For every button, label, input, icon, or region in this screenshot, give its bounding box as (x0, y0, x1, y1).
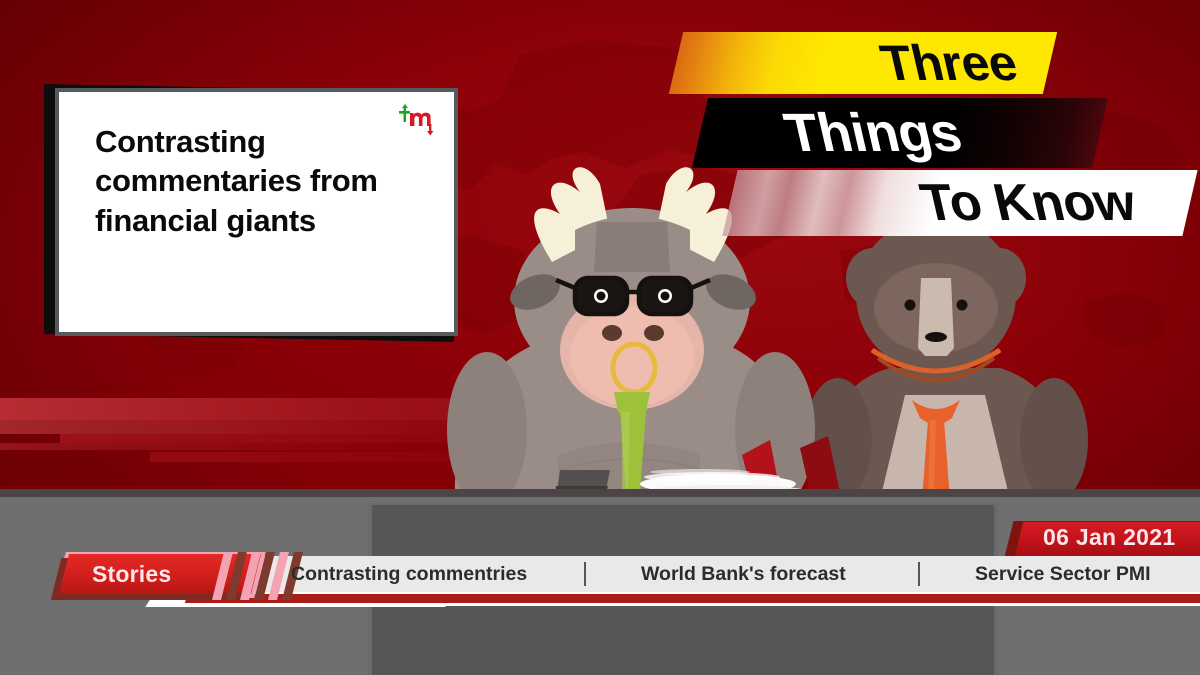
news-ticker: Stories Contrasting commentries World Ba… (0, 552, 1200, 608)
ticker-item-2[interactable]: World Bank's forecast (641, 563, 846, 586)
date-text: 06 Jan 2021 (1043, 524, 1175, 551)
ticker-item-3[interactable]: Service Sector PMI (975, 563, 1151, 586)
title-banner-1: Three (676, 32, 1050, 94)
banner-label: Things (779, 102, 967, 164)
ticker-separator (584, 562, 586, 586)
ticker-items: Contrasting commentries World Bank's for… (0, 552, 1200, 598)
headline-card: Contrasting commentaries from financial … (55, 88, 458, 336)
banner-label: Three (876, 34, 1023, 92)
desk-panel-highlight (372, 503, 994, 505)
title-banner-2: Things (700, 98, 1100, 168)
ticker-separator (918, 562, 920, 586)
ticker-item-1[interactable]: Contrasting commentries (291, 563, 527, 586)
broadcast-graphic: Contrasting commentaries from financial … (0, 0, 1200, 675)
headline-text: Contrasting commentaries from financial … (95, 122, 425, 240)
title-banner-3: To Know (730, 170, 1190, 236)
tm-logo-icon (396, 104, 436, 138)
banner-label: To Know (915, 173, 1141, 233)
